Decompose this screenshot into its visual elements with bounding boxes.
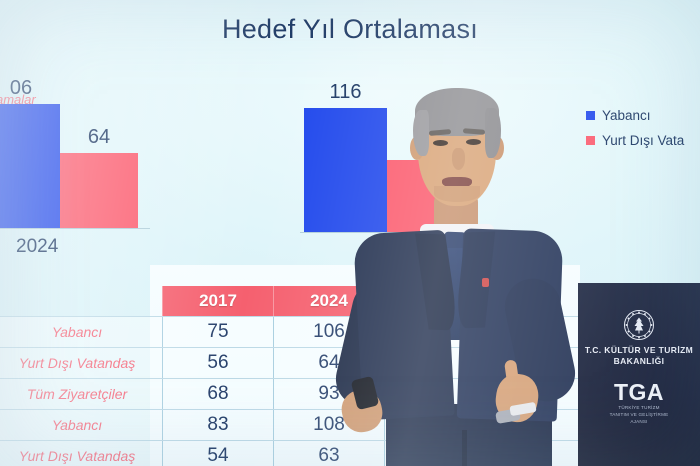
row-label: Yabancı [52, 324, 102, 340]
cell-2017: 54 [207, 445, 228, 466]
speaker-trouser-seam [462, 430, 467, 466]
legend-item-yabanci: Yabancı [586, 108, 684, 123]
row-label: Yurt Dışı Vatandaş [19, 355, 135, 371]
bar-left-yabanci-value: 06 [10, 77, 32, 100]
ministry-line-1: T.C. KÜLTÜR VE TURİZM [578, 345, 700, 356]
cell-2017: 56 [207, 352, 228, 374]
speaker-hair-side-left [413, 110, 429, 156]
tga-sublabel: TÜRKİYE TURİZM TANITIM VE GELİŞTİRME AJA… [578, 405, 700, 426]
legend-label-yurt-disi: Yurt Dışı Vata [602, 133, 684, 148]
podium-ministry-text: T.C. KÜLTÜR VE TURİZM BAKANLIĞI [578, 345, 700, 368]
bar-left-yurt-disi: 64 [60, 153, 138, 228]
ministry-line-2: BAKANLIĞI [578, 356, 700, 367]
row-label: Tüm Ziyaretçiler [27, 386, 127, 402]
ministry-emblem-icon [623, 309, 655, 341]
bar-chart-left: amalar 06 64 2024 [0, 96, 150, 256]
chart-legend: Yabancı Yurt Dışı Vata [586, 108, 684, 158]
legend-label-yabanci: Yabancı [602, 108, 651, 123]
legend-swatch-blue-icon [586, 111, 595, 120]
tga-sub-line-2: TANITIM VE GELİŞTİRME [578, 412, 700, 419]
speaker-eye-left [433, 140, 448, 146]
legend-item-yurt-disi-vatandas: Yurt Dışı Vata [586, 133, 684, 148]
chart-left-x-label: 2024 [16, 236, 58, 258]
cell-2017: 68 [207, 383, 228, 405]
bar-left-yurt-disi-value: 64 [88, 126, 110, 149]
speaker-figure [330, 74, 580, 466]
cell-2017: 75 [207, 321, 228, 343]
speaker-chin [434, 186, 480, 202]
page-title: Hedef Yıl Ortalaması [0, 14, 700, 45]
cell-2017: 83 [207, 414, 228, 436]
row-label: Yabancı [52, 417, 102, 433]
tga-sub-line-3: AJANSI [578, 419, 700, 426]
screenshot-root: Hedef Yıl Ortalaması Yabancı Yurt Dışı V… [0, 0, 700, 466]
speaker-eye-right [466, 139, 481, 145]
legend-swatch-red-icon [586, 136, 595, 145]
table-header-2017: 2017 [162, 286, 274, 316]
table-header-label-cell [0, 286, 162, 316]
speaker-lapel-pin [482, 278, 489, 287]
bar-left-yabanci: 06 [0, 104, 60, 228]
tga-logo: TGA [578, 379, 700, 406]
podium-edge [578, 283, 581, 466]
speaker-nose [452, 148, 465, 170]
tga-sub-line-1: TÜRKİYE TURİZM [578, 405, 700, 412]
chart-left-axis [0, 228, 150, 229]
row-label: Yurt Dışı Vatandaş [19, 448, 135, 464]
podium: T.C. KÜLTÜR VE TURİZM BAKANLIĞI TGA TÜRK… [578, 283, 700, 466]
